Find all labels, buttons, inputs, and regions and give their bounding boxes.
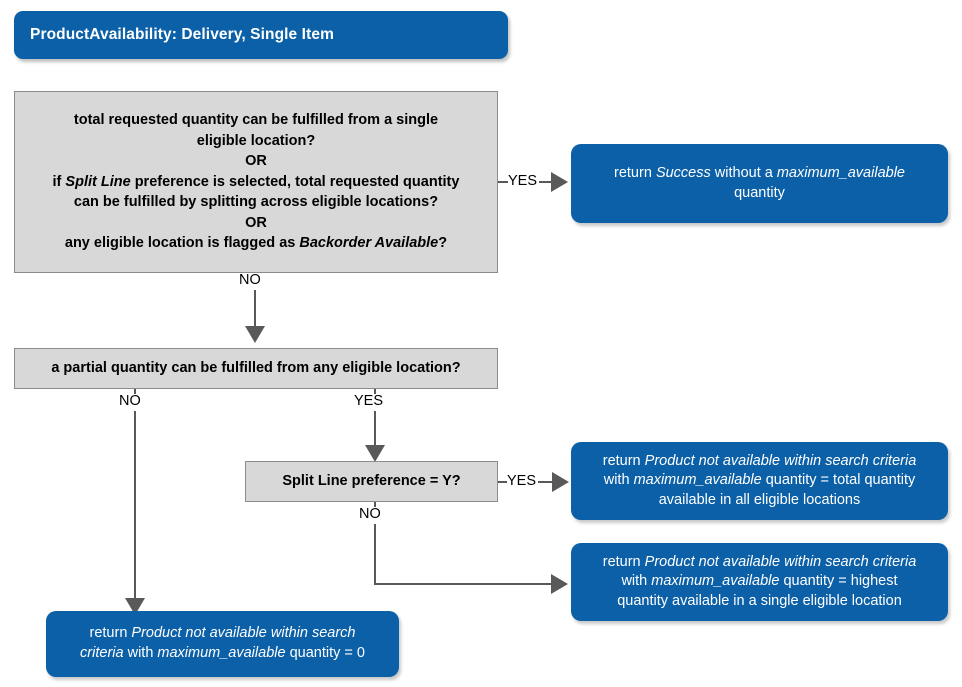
edge-main-no-arrowhead [245, 326, 265, 343]
decision-split-line-box[interactable]: Split Line preference = Y? [245, 461, 498, 502]
result-total-available-text: return Product not available within sear… [581, 452, 938, 511]
edge-partial-no-label: NO [119, 394, 141, 409]
edge-split-yes-line-b [538, 481, 552, 483]
edge-main-no-line-b [254, 290, 256, 326]
decision-partial-box[interactable]: a partial quantity can be fulfilled from… [14, 348, 498, 389]
decision-main-box[interactable]: total requested quantity can be fulfille… [14, 91, 498, 273]
result-zero-text: return Product not available within sear… [56, 624, 389, 663]
flowchart-canvas: ProductAvailability: Delivery, Single It… [0, 0, 962, 687]
edge-partial-no-line-b [134, 411, 136, 600]
decision-split-line-text: Split Line preference = Y? [252, 471, 491, 492]
result-success-text: return Success without a maximum_availab… [581, 164, 938, 203]
edge-split-yes-label: YES [507, 474, 536, 489]
edge-split-yes-arrowhead [552, 472, 569, 492]
decision-main-text: total requested quantity can be fulfille… [21, 110, 491, 254]
edge-split-no-line-b [374, 524, 376, 585]
edge-split-no-label: NO [359, 507, 381, 522]
diagram-title: ProductAvailability: Delivery, Single It… [14, 26, 334, 44]
result-zero-box[interactable]: return Product not available within sear… [46, 611, 399, 677]
edge-partial-yes-label: YES [354, 394, 383, 409]
edge-partial-yes-arrowhead [365, 445, 385, 462]
edge-split-no-line-c [374, 583, 551, 585]
diagram-title-banner: ProductAvailability: Delivery, Single It… [14, 11, 508, 59]
edge-main-yes-label: YES [508, 174, 537, 189]
edge-main-no-label: NO [239, 273, 261, 288]
edge-partial-yes-line-b [374, 411, 376, 445]
result-success-box[interactable]: return Success without a maximum_availab… [571, 144, 948, 223]
result-total-available-box[interactable]: return Product not available within sear… [571, 442, 948, 520]
edge-split-no-arrowhead [551, 574, 568, 594]
edge-main-yes-arrowhead [551, 172, 568, 192]
edge-main-yes-line-b [539, 181, 551, 183]
result-highest-single-text: return Product not available within sear… [581, 553, 938, 612]
edge-main-yes-line-a [498, 181, 508, 183]
decision-partial-text: a partial quantity can be fulfilled from… [21, 358, 491, 379]
result-highest-single-box[interactable]: return Product not available within sear… [571, 543, 948, 621]
edge-split-yes-line-a [498, 481, 507, 483]
